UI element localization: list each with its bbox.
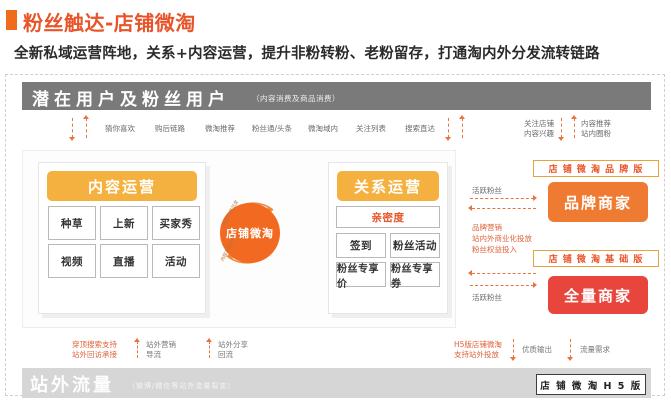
top-right-arrow-up-head	[459, 115, 465, 119]
bottom-flow-3-line2: 支持站外投放	[454, 350, 502, 360]
bottom-arrow-line-4	[570, 339, 571, 358]
all-merchant-box[interactable]: 全量商家	[548, 276, 648, 314]
bottom-flow-0: 穿顶搜索支持 站外回访承接	[72, 340, 117, 360]
top-arrow-down-head	[69, 137, 75, 141]
content-cell-5[interactable]: 活动	[152, 244, 200, 278]
header-accent-bar	[6, 10, 17, 30]
bottom-flow-1: 站外营销 导流	[146, 340, 176, 360]
channel-label-4: 微淘域内	[301, 124, 345, 133]
footer-title: 站外流量	[30, 371, 114, 397]
bottom-flow-3-line1: H5版店铺微淘	[454, 340, 502, 350]
mid-arrow-left-head-top	[468, 205, 472, 211]
relation-cell-0[interactable]: 签到	[336, 233, 386, 258]
top-right-flow-0: 关注店铺 内容兴趣	[508, 119, 554, 139]
top-banner-note: （内容消费及商品消费）	[252, 93, 340, 104]
bottom-arrow-line-1	[137, 341, 138, 358]
bottom-flow-5-line1: 流量需求	[580, 345, 610, 355]
mid-arrow-right-line-top	[470, 198, 534, 199]
top-arrow-up-line	[86, 118, 87, 138]
top-right-arrow-up-line	[462, 118, 463, 138]
channel-label-6: 搜索直达	[398, 124, 442, 133]
bottom-arrow-head-4	[567, 357, 573, 361]
top-right-arrow-down-head	[445, 137, 451, 141]
page-subtitle: 全新私域运营阵地，关系+内容运营，提升非粉转粉、老粉留存，打通淘内外分发流转链路	[14, 42, 600, 63]
bottom-arrow-line-3	[513, 339, 514, 358]
mid-center-line-2: 粉丝权益投入	[472, 244, 517, 255]
top-right-flow-1-line2: 站内圈粉	[581, 129, 633, 139]
top-right-flow-0-line1: 关注店铺	[508, 119, 554, 129]
mid-arrow-left-line-top	[472, 208, 536, 209]
channel-label-2: 微淘推荐	[198, 124, 242, 133]
content-operations-title: 内容运营	[47, 171, 197, 201]
top-arrow-up-head	[83, 115, 89, 119]
relation-cell-1[interactable]: 粉丝活动	[390, 233, 440, 258]
top-right-flow-0-line2: 内容兴趣	[508, 129, 554, 139]
mid-center-line-1: 站内外商业化投放	[472, 233, 532, 244]
relation-highlight-cell[interactable]: 亲密度	[336, 206, 440, 228]
mid-arrow-left-head-bottom	[468, 270, 472, 276]
channel-label-5: 关注列表	[349, 124, 393, 133]
bottom-flow-1-line2: 导流	[146, 350, 176, 360]
page-title: 粉丝触达-店铺微淘	[23, 7, 196, 36]
brand-merchant-box[interactable]: 品牌商家	[548, 182, 648, 222]
bottom-flow-5: 流量需求	[580, 345, 610, 355]
right-flow-down-head	[558, 137, 564, 141]
channel-label-0: 猜你喜欢	[98, 124, 142, 133]
mid-center-line-0: 品牌营销	[472, 222, 502, 233]
bottom-flow-4: 优质输出	[522, 345, 552, 355]
top-right-arrow-down-line	[448, 118, 449, 138]
bottom-flow-0-line2: 站外回访承接	[72, 350, 117, 360]
bottom-arrow-head-2	[206, 338, 212, 342]
content-cell-2[interactable]: 买家秀	[152, 206, 200, 240]
bottom-flow-4-line1: 优质输出	[522, 345, 552, 355]
top-arrow-down-line	[72, 118, 73, 138]
page-header: 粉丝触达-店铺微淘 全新私域运营阵地，关系+内容运营，提升非粉转粉、老粉留存，打…	[0, 0, 671, 78]
bottom-arrow-line-2	[209, 341, 210, 358]
mid-arrow-right-line-bottom	[470, 285, 534, 286]
mid-label-top: 活跃粉丝	[472, 185, 502, 196]
bottom-flow-2-line1: 站外分享	[218, 340, 248, 350]
mid-label-bottom: 活跃粉丝	[472, 292, 502, 303]
footer-h5-badge[interactable]: 店 铺 微 淘 H 5 版	[536, 374, 646, 395]
top-banner-title: 潜在用户及粉丝用户	[32, 85, 230, 110]
right-flow-down-line	[561, 118, 562, 138]
channel-label-3: 粉丝通/头条	[246, 124, 298, 133]
basic-version-badge: 店 铺 微 淘 基 础 版	[533, 250, 659, 267]
relation-cell-3[interactable]: 粉丝专享券	[390, 262, 440, 287]
bottom-arrow-head-1	[134, 338, 140, 342]
top-right-flow-1-line1: 内容推荐	[581, 119, 633, 129]
content-cell-3[interactable]: 视频	[48, 244, 96, 278]
bottom-flow-0-line1: 穿顶搜索支持	[72, 340, 117, 350]
bottom-flow-3: H5版店铺微淘 支持站外投放	[454, 340, 502, 360]
mid-arrow-right-head-bottom	[533, 282, 537, 288]
right-flow-up-head	[571, 115, 577, 119]
bottom-flow-2: 站外分享 回流	[218, 340, 248, 360]
bottom-arrow-head-3	[510, 357, 516, 361]
brand-version-badge: 店 铺 微 淘 品 牌 版	[533, 160, 659, 177]
right-flow-up-line	[574, 118, 575, 138]
content-cell-4[interactable]: 直播	[100, 244, 148, 278]
top-right-flow-1: 内容推荐 站内圈粉	[581, 119, 633, 139]
mid-arrow-right-head-top	[533, 195, 537, 201]
content-cell-1[interactable]: 上新	[100, 206, 148, 240]
content-cell-0[interactable]: 种草	[48, 206, 96, 240]
mid-arrow-left-line-bottom	[472, 273, 536, 274]
channel-label-1: 购后链路	[148, 124, 192, 133]
bottom-flow-2-line2: 回流	[218, 350, 248, 360]
bottom-flow-1-line1: 站外营销	[146, 340, 176, 350]
relation-cell-2[interactable]: 粉丝专享价	[336, 262, 386, 287]
footer-note: （微博/微信等站外流量裂变）	[128, 381, 235, 391]
relation-operations-title: 关系运营	[337, 171, 439, 201]
hub-node: 店铺微淘 粉丝内容沉淀 内容关系转化	[211, 194, 289, 272]
